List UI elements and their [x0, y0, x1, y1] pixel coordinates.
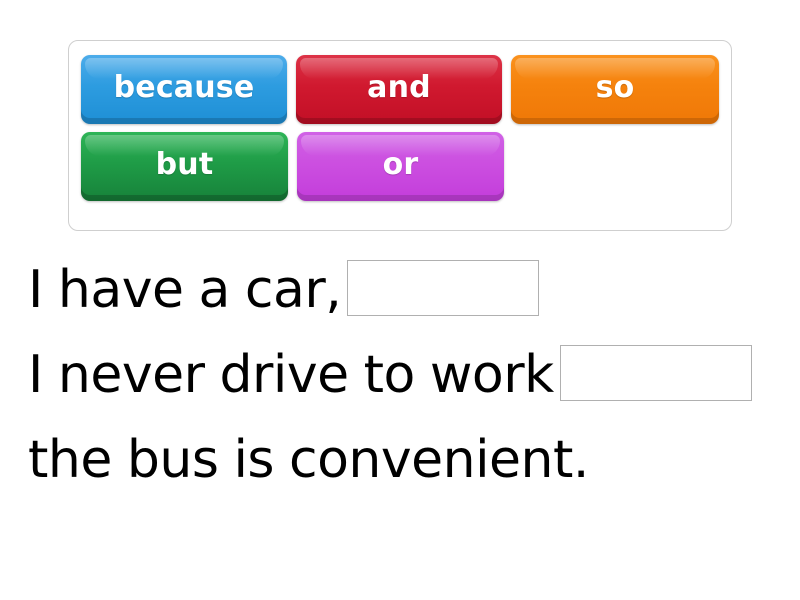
blank-drop-zone-1[interactable] [347, 260, 539, 316]
word-bank-panel: because and so but or [68, 40, 732, 231]
word-tile-so[interactable]: so [511, 55, 719, 124]
word-bank-row-2: but or [81, 132, 719, 201]
sentence-prompt: I have a car,I never drive to workthe bu… [28, 248, 782, 503]
sentence-part-3: the bus is convenient. [28, 430, 589, 490]
sentence-part-2: I never drive to work [28, 345, 554, 405]
word-tile-or[interactable]: or [297, 132, 504, 201]
word-tile-but[interactable]: but [81, 132, 288, 201]
blank-drop-zone-2[interactable] [560, 345, 752, 401]
word-tile-and[interactable]: and [296, 55, 502, 124]
word-bank-rows: because and so but or [81, 55, 719, 201]
word-tile-because[interactable]: because [81, 55, 287, 124]
sentence-part-1: I have a car, [28, 260, 341, 320]
word-bank-row-1: because and so [81, 55, 719, 124]
